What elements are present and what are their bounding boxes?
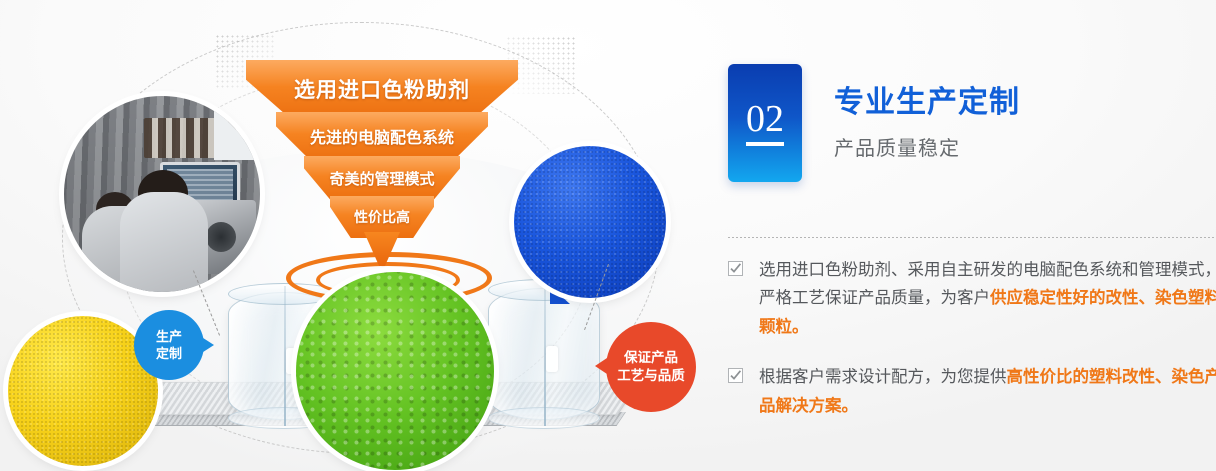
bullet-list: 选用进口色粉助剂、采用自主研发的电脑配色系统和管理模式，严格工艺保证产品质量，为… (728, 256, 1216, 442)
section-number: 02 (746, 100, 784, 146)
promo-banner: 选用进口色粉助剂 先进的电脑配色系统 奇美的管理模式 性价比高 生产 定制 保证 (0, 0, 1216, 471)
bullet-text-2: 根据客户需求设计配方，为您提供高性价比的塑料改性、染色产品解决方案。 (759, 363, 1216, 420)
tag-orange-line2: 工艺与品质 (617, 367, 685, 385)
funnel-layer-3: 奇美的管理模式 (304, 156, 460, 200)
process-illustration: 选用进口色粉助剂 先进的电脑配色系统 奇美的管理模式 性价比高 生产 定制 保证 (0, 0, 716, 471)
list-item: 选用进口色粉助剂、采用自主研发的电脑配色系统和管理模式，严格工艺保证产品质量，为… (728, 256, 1216, 341)
checkbox-checked-icon (728, 261, 743, 276)
section-subtitle: 产品质量稳定 (834, 132, 1020, 161)
funnel-diagram: 选用进口色粉助剂 先进的电脑配色系统 奇美的管理模式 性价比高 (246, 60, 518, 268)
section-content: 02 专业生产定制 产品质量稳定 选用进口色粉助剂、采用自主研发的电脑配色系统和… (722, 0, 1216, 471)
tag-blue-line1: 生产 (156, 328, 182, 345)
bullet-text-1: 选用进口色粉助剂、采用自主研发的电脑配色系统和管理模式，严格工艺保证产品质量，为… (759, 256, 1216, 341)
glass-cylinder-right (488, 288, 600, 420)
funnel-layer-2: 先进的电脑配色系统 (276, 112, 488, 160)
lab-photo-image (64, 96, 260, 292)
blue-powder-image (514, 146, 666, 298)
checkbox-checked-icon (728, 368, 743, 383)
section-title: 专业生产定制 (834, 84, 1020, 122)
section-header: 02 专业生产定制 产品质量稳定 (728, 64, 1020, 182)
bullet-2-plain: 根据客户需求设计配方，为您提供 (759, 368, 1007, 386)
list-item: 根据客户需求设计配方，为您提供高性价比的塑料改性、染色产品解决方案。 (728, 363, 1216, 420)
green-pellets-image (296, 272, 494, 470)
funnel-layer-1: 选用进口色粉助剂 (246, 60, 518, 118)
tag-quality-guarantee: 保证产品 工艺与品质 (606, 322, 696, 412)
dotted-divider (728, 237, 1216, 238)
section-number-badge: 02 (728, 64, 802, 182)
funnel-layer-4: 性价比高 (330, 196, 434, 238)
tag-orange-line1: 保证产品 (624, 349, 678, 367)
tag-production-custom: 生产 定制 (134, 310, 204, 380)
tag-blue-line2: 定制 (156, 345, 182, 362)
funnel-spout (364, 232, 400, 266)
section-titles: 专业生产定制 产品质量稳定 (834, 64, 1020, 161)
